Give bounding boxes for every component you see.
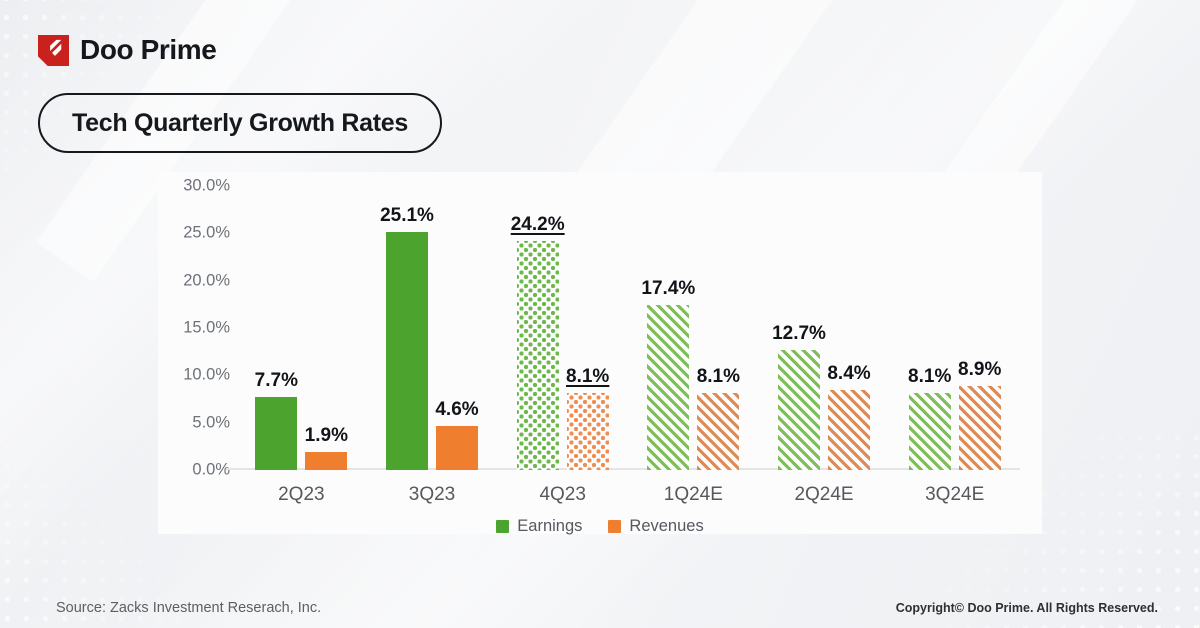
y-axis-tick: 20.0% — [183, 271, 230, 290]
bar-revenues[interactable]: 1.9% — [305, 452, 347, 470]
bar-value-label: 8.1% — [908, 366, 951, 388]
bar-revenues[interactable]: 4.6% — [436, 426, 478, 470]
legend-label: Revenues — [629, 517, 703, 536]
page-title: Tech Quarterly Growth Rates — [38, 93, 442, 153]
bar-column[interactable]: 17.4% — [647, 186, 689, 470]
legend-item-earnings[interactable]: Earnings — [496, 517, 582, 536]
y-axis-tick: 0.0% — [192, 461, 230, 480]
bar-column[interactable]: 7.7% — [255, 186, 297, 470]
doo-prime-flag-icon — [38, 35, 69, 66]
poster-background: Doo Prime Tech Quarterly Growth Rates 0.… — [0, 0, 1200, 628]
bar-column[interactable]: 4.6% — [436, 186, 478, 470]
legend-swatch-icon — [608, 520, 621, 533]
bar-group: 7.7%1.9% — [236, 186, 367, 470]
bar-column[interactable]: 8.1% — [567, 186, 609, 470]
y-axis-tick: 5.0% — [192, 413, 230, 432]
plot-area: 7.7%1.9%25.1%4.6%24.2%8.1%17.4%8.1%12.7%… — [236, 186, 1020, 470]
bar-column[interactable]: 8.1% — [697, 186, 739, 470]
x-axis-tick: 3Q23 — [367, 484, 498, 506]
bar-revenues[interactable]: 8.1% — [567, 393, 609, 470]
bar-value-label: 8.1% — [697, 366, 740, 388]
page-title-text: Tech Quarterly Growth Rates — [72, 109, 408, 138]
bar-column[interactable]: 25.1% — [386, 186, 428, 470]
legend-swatch-icon — [496, 520, 509, 533]
legend-item-revenues[interactable]: Revenues — [608, 517, 703, 536]
x-axis-tick: 4Q23 — [497, 484, 628, 506]
source-note: Source: Zacks Investment Reserach, Inc. — [56, 600, 321, 616]
y-axis-tick: 30.0% — [183, 177, 230, 196]
bar-revenues[interactable]: 8.1% — [697, 393, 739, 470]
bar-value-label: 24.2% — [511, 214, 565, 236]
x-axis-category-labels: 2Q233Q234Q231Q24E2Q24E3Q24E — [236, 484, 1020, 506]
bar-value-label: 8.1% — [566, 366, 609, 388]
bar-value-label: 8.4% — [827, 363, 870, 385]
x-axis-tick: 2Q24E — [759, 484, 890, 506]
bar-earnings[interactable]: 7.7% — [255, 397, 297, 470]
x-axis-tick: 3Q24E — [889, 484, 1020, 506]
bar-group: 24.2%8.1% — [497, 186, 628, 470]
chart-card: 0.0%5.0%10.0%15.0%20.0%25.0%30.0% 7.7%1.… — [158, 172, 1042, 534]
bar-column[interactable]: 8.1% — [909, 186, 951, 470]
bar-group: 8.1%8.9% — [889, 186, 1020, 470]
x-axis-tick: 1Q24E — [628, 484, 759, 506]
bar-value-label: 1.9% — [305, 425, 348, 447]
bar-groups: 7.7%1.9%25.1%4.6%24.2%8.1%17.4%8.1%12.7%… — [236, 186, 1020, 470]
bar-column[interactable]: 1.9% — [305, 186, 347, 470]
bar-earnings[interactable]: 8.1% — [909, 393, 951, 470]
legend-label: Earnings — [517, 517, 582, 536]
y-axis-tick: 15.0% — [183, 319, 230, 338]
chart-legend: EarningsRevenues — [158, 517, 1042, 536]
bar-earnings[interactable]: 17.4% — [647, 305, 689, 470]
brand-logo: Doo Prime — [38, 34, 216, 66]
bar-column[interactable]: 8.4% — [828, 186, 870, 470]
bar-value-label: 25.1% — [380, 205, 434, 227]
y-axis-tick: 10.0% — [183, 366, 230, 385]
copyright-note: Copyright© Doo Prime. All Rights Reserve… — [896, 601, 1158, 615]
bar-revenues[interactable]: 8.9% — [959, 386, 1001, 470]
bar-group: 12.7%8.4% — [759, 186, 890, 470]
bar-revenues[interactable]: 8.4% — [828, 390, 870, 470]
bar-value-label: 7.7% — [255, 370, 298, 392]
bar-value-label: 8.9% — [958, 359, 1001, 381]
bar-group: 25.1%4.6% — [367, 186, 498, 470]
bar-column[interactable]: 8.9% — [959, 186, 1001, 470]
bar-earnings[interactable]: 24.2% — [517, 241, 559, 470]
bar-earnings[interactable]: 25.1% — [386, 232, 428, 470]
bar-value-label: 17.4% — [641, 278, 695, 300]
bar-column[interactable]: 24.2% — [517, 186, 559, 470]
bar-earnings[interactable]: 12.7% — [778, 350, 820, 470]
bar-column[interactable]: 12.7% — [778, 186, 820, 470]
y-axis-labels: 0.0%5.0%10.0%15.0%20.0%25.0%30.0% — [158, 186, 230, 470]
bar-value-label: 4.6% — [435, 399, 478, 421]
bar-value-label: 12.7% — [772, 323, 826, 345]
y-axis-tick: 25.0% — [183, 224, 230, 243]
brand-name: Doo Prime — [80, 34, 216, 66]
x-axis-tick: 2Q23 — [236, 484, 367, 506]
bar-group: 17.4%8.1% — [628, 186, 759, 470]
